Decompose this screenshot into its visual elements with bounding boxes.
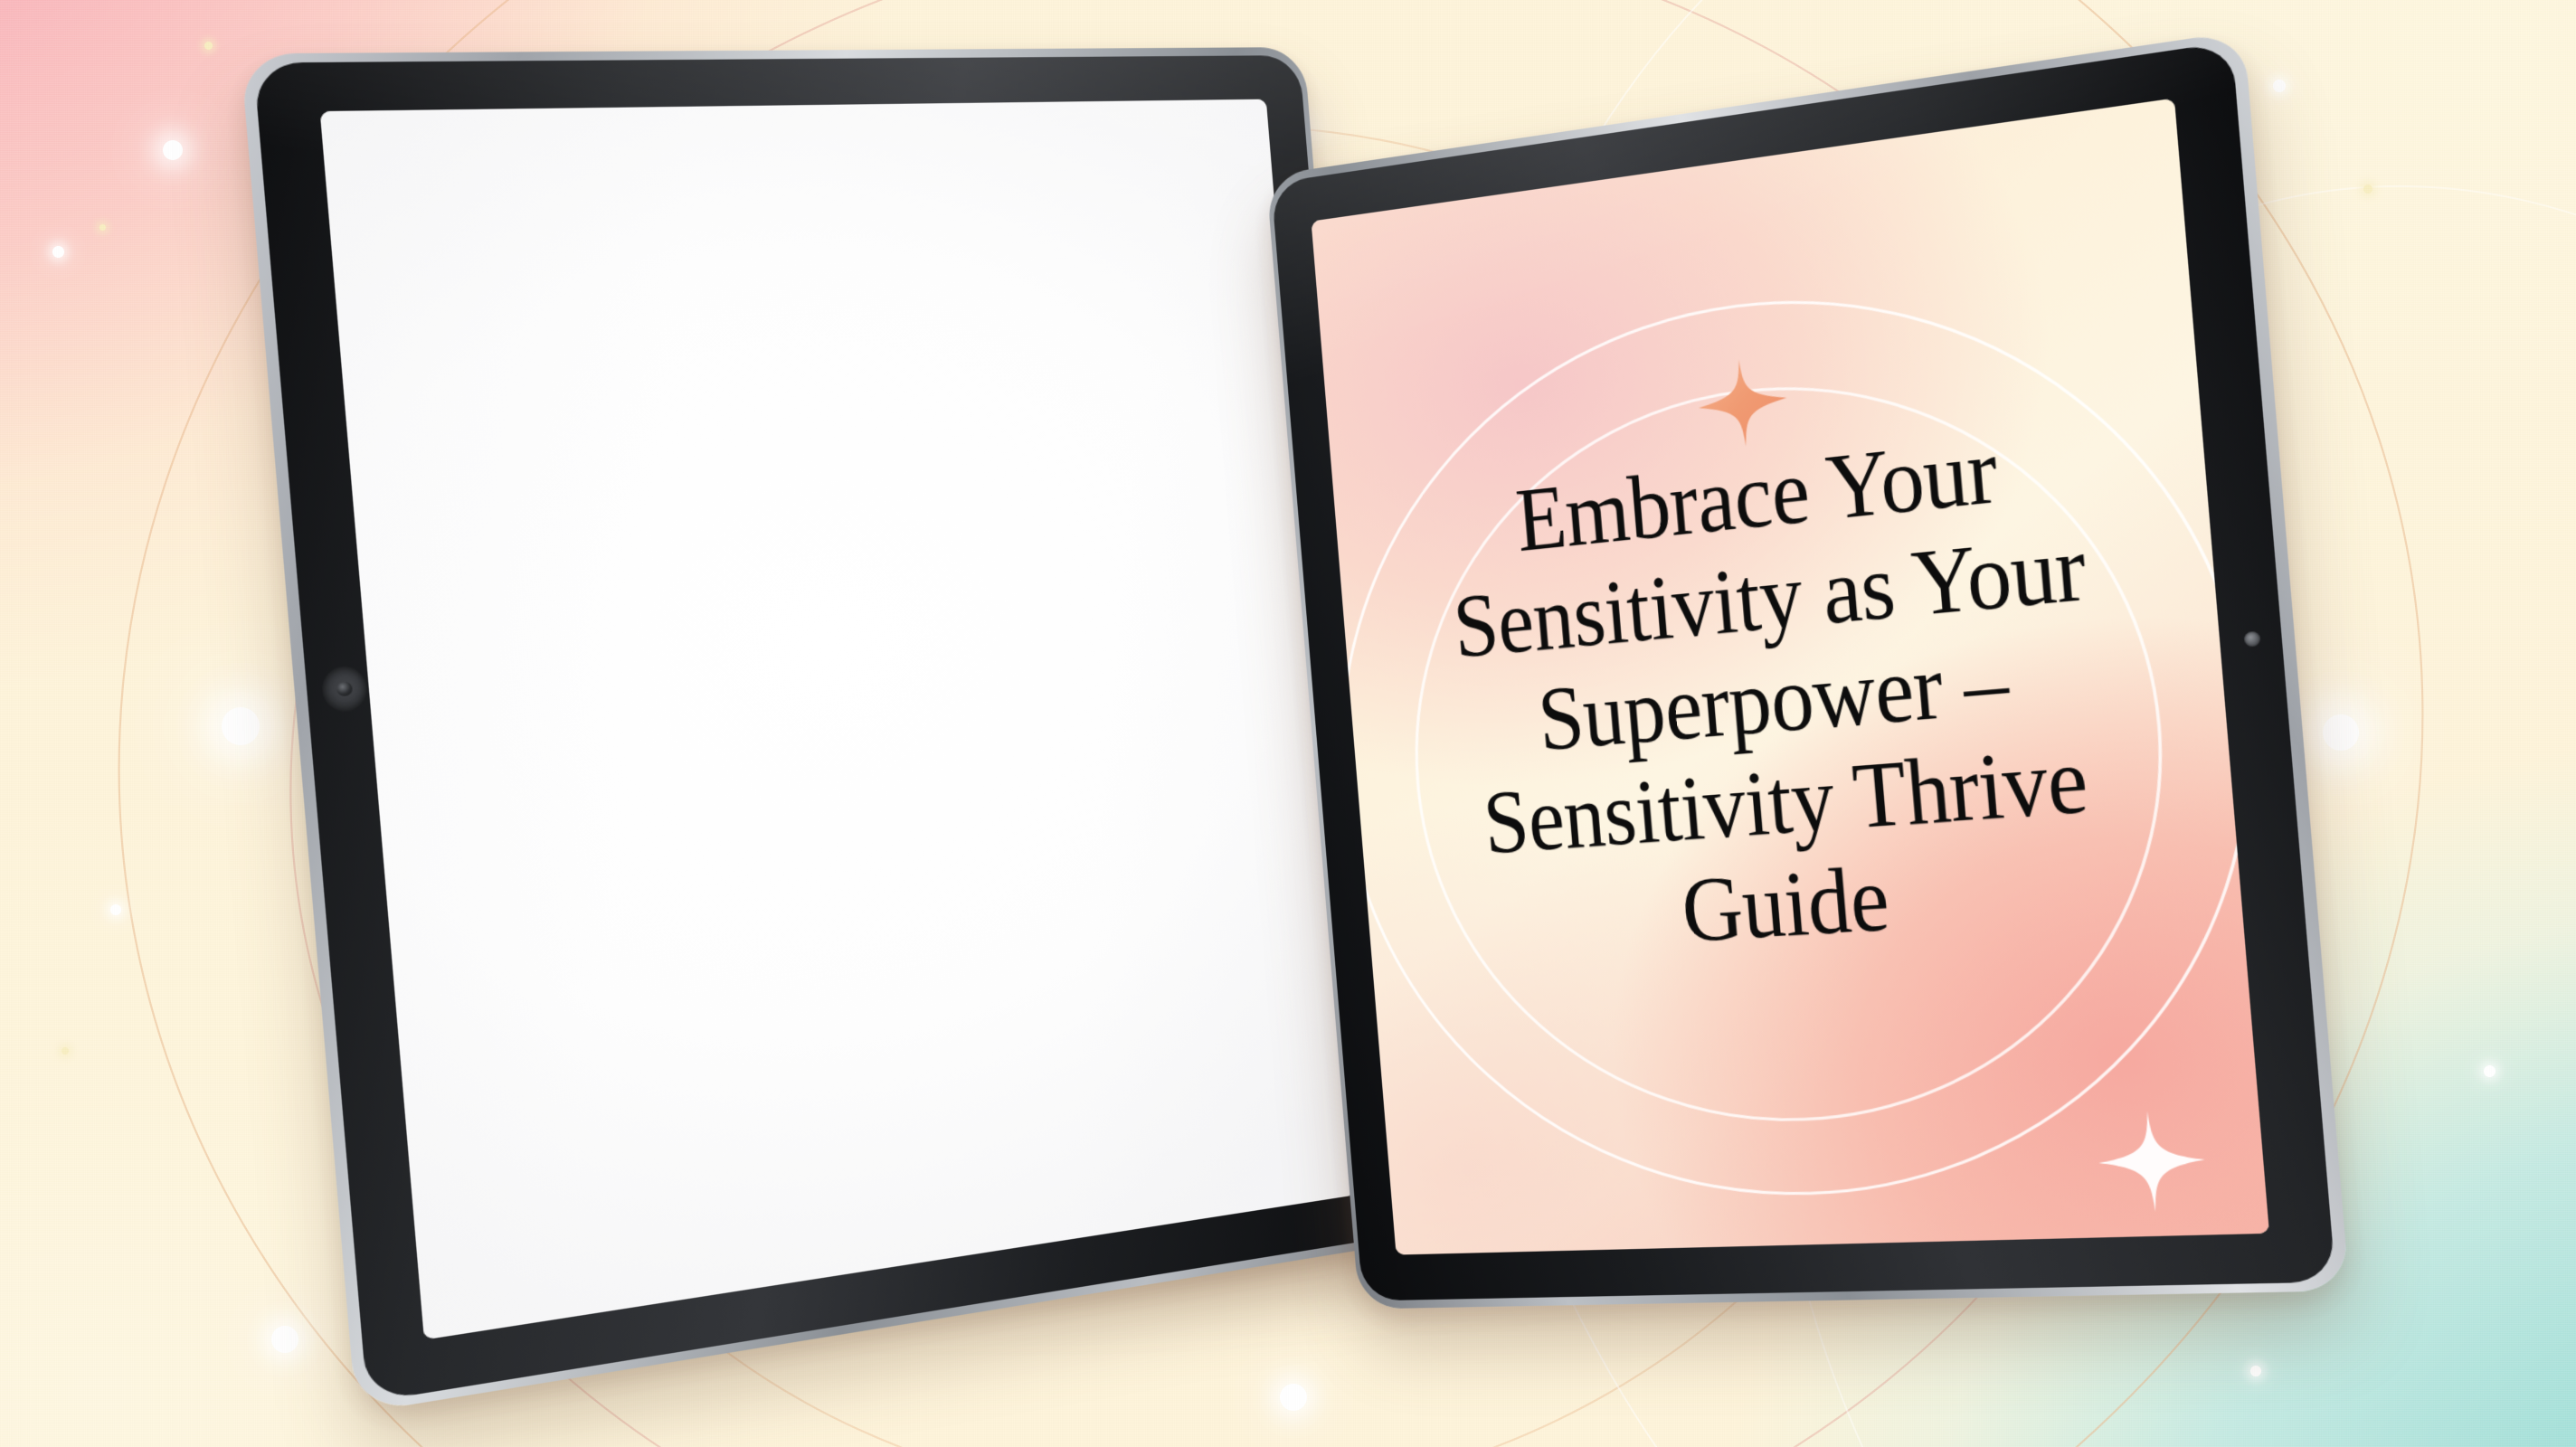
left-panel-bezel xyxy=(253,55,1396,1403)
four-point-star-icon xyxy=(2091,1106,2212,1216)
cover-ring-decoration xyxy=(1312,98,2269,1254)
four-point-star-icon xyxy=(1693,352,1793,453)
camera-dot-icon xyxy=(2244,631,2261,648)
right-panel-bezel: Embrace Your Sensitivity as Your Superpo… xyxy=(1271,42,2335,1301)
book-cover-artwork: Embrace Your Sensitivity as Your Superpo… xyxy=(1312,98,2269,1254)
camera-lens-icon xyxy=(320,665,368,713)
left-panel[interactable] xyxy=(253,55,1396,1403)
tablet-device: Embrace Your Sensitivity as Your Superpo… xyxy=(0,0,2576,1447)
right-screen[interactable]: Embrace Your Sensitivity as Your Superpo… xyxy=(1312,98,2269,1254)
blank-page-content xyxy=(320,99,1357,1340)
screenshot-stage: Embrace Your Sensitivity as Your Superpo… xyxy=(0,0,2576,1447)
right-panel[interactable]: Embrace Your Sensitivity as Your Superpo… xyxy=(1271,42,2335,1301)
left-screen[interactable] xyxy=(320,99,1357,1340)
cover-title: Embrace Your Sensitivity as Your Superpo… xyxy=(1373,402,2196,979)
